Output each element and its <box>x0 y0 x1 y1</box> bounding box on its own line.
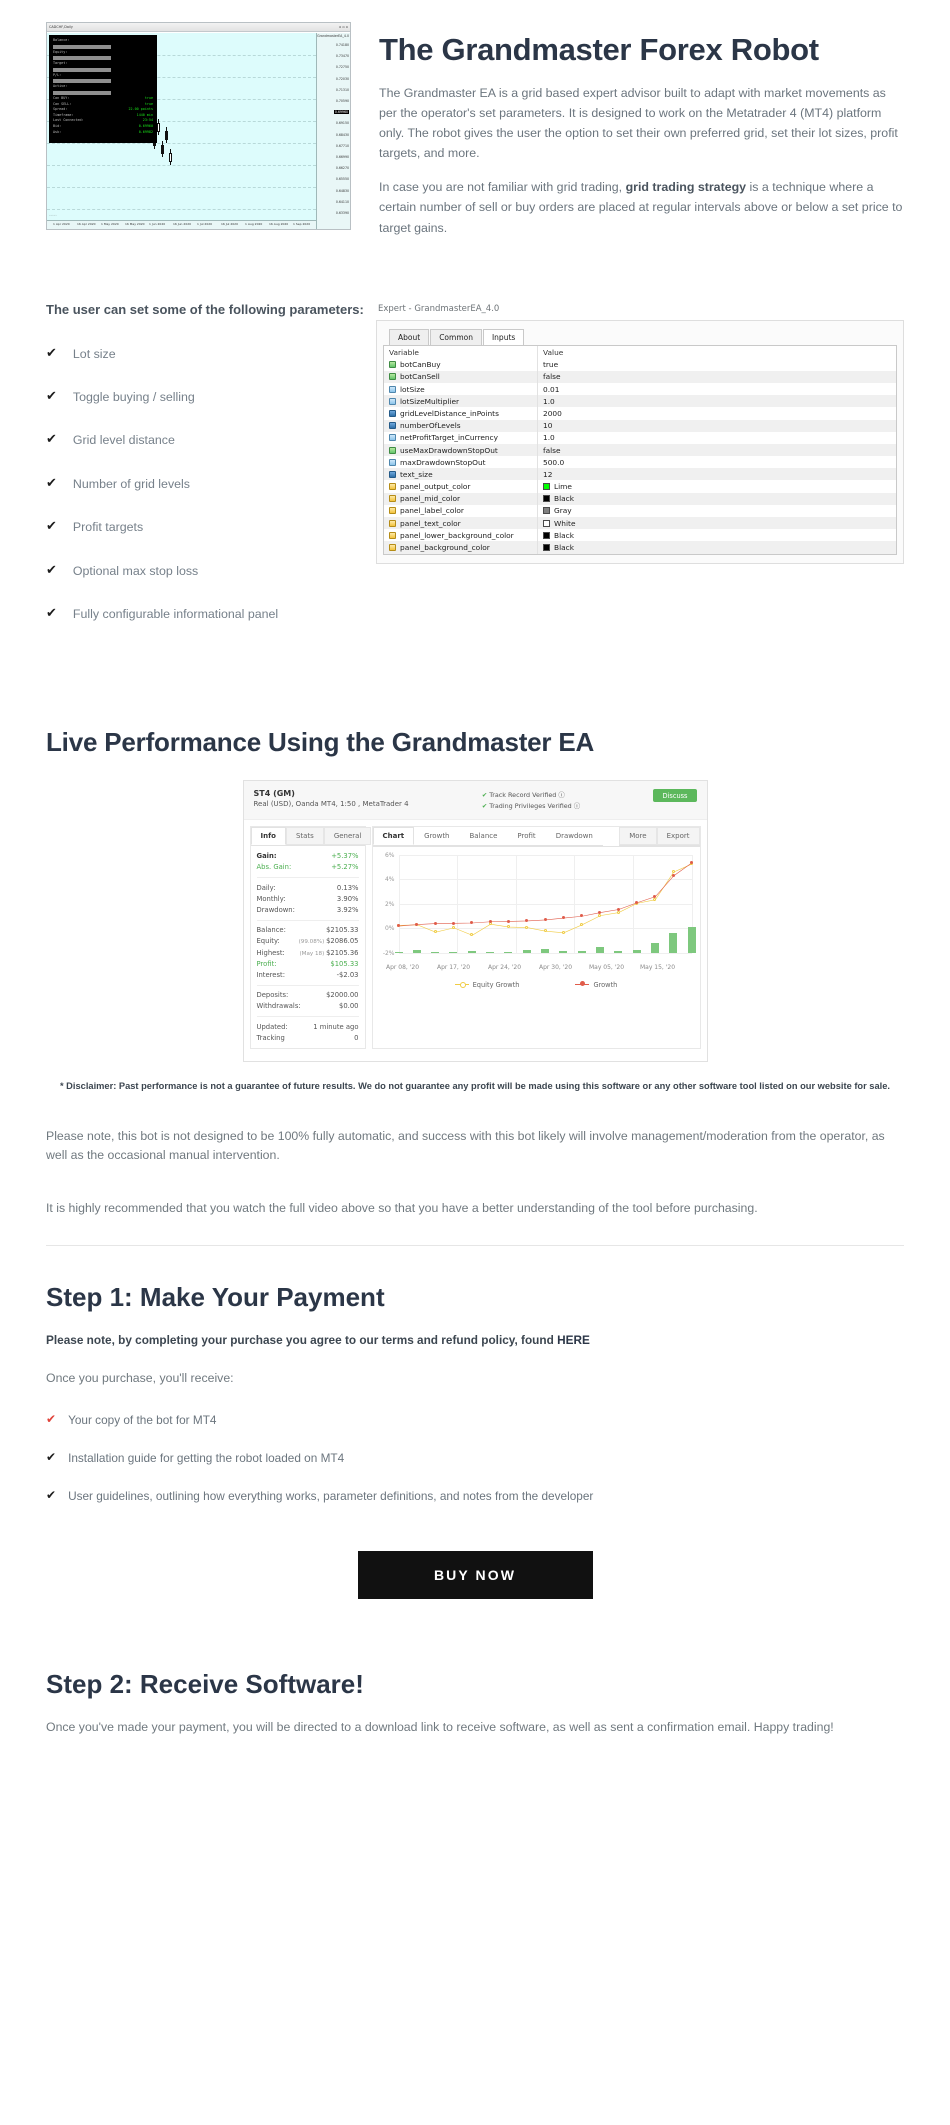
stat-row: Deposits:$2000.00 <box>257 990 359 1001</box>
variable-value: Lime <box>554 482 572 491</box>
parameter-label: Number of grid levels <box>73 476 190 493</box>
parameters-heading: The user can set some of the following p… <box>46 300 366 320</box>
table-row[interactable]: botCanSellfalse <box>384 371 896 383</box>
hero-p2-pre: In case you are not familiar with grid t… <box>379 180 626 194</box>
variable-value: 2000 <box>543 409 562 418</box>
parameter-label: Fully configurable informational panel <box>73 606 278 623</box>
chart-data-point <box>617 908 620 911</box>
mt4-window-title: CADCHF,Daily <box>49 25 73 29</box>
chart-tab-strip[interactable]: ChartGrowthBalanceProfitDrawdown <box>373 827 603 846</box>
num-icon <box>389 459 396 466</box>
stat-label: Drawdown: <box>257 906 295 914</box>
deliverable-label: Your copy of the bot for MT4 <box>68 1413 216 1427</box>
note-video: It is highly recommended that you watch … <box>0 1179 950 1219</box>
color-icon <box>389 483 396 490</box>
stat-value: +5.27% <box>331 863 358 871</box>
table-row[interactable]: lotSizeMultiplier1.0 <box>384 395 896 407</box>
chart-data-point <box>635 901 638 904</box>
mt4-panel-row: Equity: <box>53 50 153 56</box>
chart-data-point <box>452 922 455 925</box>
mt4-time-axis: 1 Apr 202016 Apr 20201 May 202016 May 20… <box>47 220 316 229</box>
variable-value: Black <box>554 543 574 552</box>
mt4-indicator-label: ⌁⌁⌁⌁⌁ <box>49 214 57 217</box>
stat-label: Updated: <box>257 1023 288 1031</box>
mt4-chart-area: Balance:Equity:Target:P/L:Active:Can BUY… <box>47 33 350 229</box>
variable-name: panel_lower_background_color <box>400 531 514 540</box>
check-icon: ✔ <box>46 346 57 360</box>
account-info: ST4 (GM) Real (USD), Oanda MT4, 1:50 , M… <box>254 789 409 812</box>
stats-divider <box>257 985 359 986</box>
dialog-tab-about[interactable]: About <box>389 329 429 345</box>
dialog-tab-common[interactable]: Common <box>430 329 482 345</box>
legend-item-growth: Growth <box>575 981 617 989</box>
discuss-button[interactable]: Discuss <box>653 789 696 802</box>
mt4-price-tick: 0.65550 <box>336 177 349 181</box>
variable-name: gridLevelDistance_inPoints <box>400 409 499 418</box>
parameter-label: Optional max stop loss <box>73 563 198 580</box>
myfxbook-body: InfoStatsGeneral Gain:+5.37%Abs. Gain:+5… <box>244 820 707 1056</box>
table-row[interactable]: panel_output_colorLime <box>384 480 896 492</box>
verification-badges: ✔ Track Record Verified ⓘ ✔ Trading Priv… <box>482 789 580 812</box>
stat-row: Balance:$2105.33 <box>257 925 359 936</box>
variable-name: useMaxDrawdownStopOut <box>400 446 498 455</box>
parameters-list-column: The user can set some of the following p… <box>46 300 366 650</box>
equity-growth-line-icon <box>455 984 469 986</box>
stats-tab-strip[interactable]: InfoStatsGeneral <box>251 827 365 846</box>
check-icon: ✔ <box>46 519 57 533</box>
chart-tab-growth[interactable]: Growth <box>414 827 459 845</box>
table-row[interactable]: panel_mid_colorBlack <box>384 493 896 505</box>
chart-y-tick: 4% <box>373 876 395 883</box>
stat-row: Highest:(May 18) $2105.36 <box>257 947 359 958</box>
chart-data-point <box>507 920 510 923</box>
parameter-item: ✔Profit targets <box>46 519 366 536</box>
chart-x-tick: Apr 08, '20 <box>386 964 419 971</box>
color-swatch <box>543 532 550 539</box>
int-icon <box>389 422 396 429</box>
table-header-row: Variable Value <box>384 346 896 359</box>
stat-label: Profit: <box>257 960 277 968</box>
parameter-label: Toggle buying / selling <box>73 389 195 406</box>
myfxbook-widget: ST4 (GM) Real (USD), Oanda MT4, 1:50 , M… <box>243 780 708 1062</box>
check-icon: ✔ <box>46 476 57 490</box>
stat-value: +5.37% <box>331 852 358 860</box>
mt4-inputs-dialog: AboutCommonInputs Variable Value botCanB… <box>376 320 904 564</box>
purchase-deliverables-list: ✔Your copy of the bot for MT4✔Installati… <box>46 1413 904 1503</box>
variable-name: panel_label_color <box>400 506 464 515</box>
variable-name: text_size <box>400 470 433 479</box>
mt4-price-tick: 0.69150 <box>336 121 349 125</box>
table-row[interactable]: numberOfLevels10 <box>384 420 896 432</box>
stat-label: Deposits: <box>257 991 289 999</box>
num-icon <box>389 398 396 405</box>
variable-value: Gray <box>554 506 572 515</box>
variable-value: Black <box>554 494 574 503</box>
color-swatch <box>543 544 550 551</box>
mt4-ea-label: GrandmasterEA_4.0 <box>317 34 349 38</box>
tab-general[interactable]: General <box>324 827 372 845</box>
variable-value: Black <box>554 531 574 540</box>
variable-name: panel_text_color <box>400 519 461 528</box>
live-performance-heading: Live Performance Using the Grandmaster E… <box>46 727 904 758</box>
variable-name: netProfitTarget_inCurrency <box>400 433 498 442</box>
parameter-label: Grid level distance <box>73 432 175 449</box>
myfxbook-header: ST4 (GM) Real (USD), Oanda MT4, 1:50 , M… <box>244 781 707 819</box>
chart-tab-profit[interactable]: Profit <box>507 827 545 845</box>
legend-label-growth: Growth <box>593 981 617 989</box>
chart-data-point <box>525 926 528 929</box>
stat-row: Abs. Gain:+5.27% <box>257 862 359 873</box>
chart-x-tick: May 05, '20 <box>589 964 624 971</box>
color-icon <box>389 544 396 551</box>
variable-value: White <box>554 519 576 528</box>
chart-y-tick: -2% <box>373 950 395 957</box>
deliverable-label: Installation guide for getting the robot… <box>68 1451 344 1465</box>
stat-value: 3.90% <box>337 895 359 903</box>
variable-value: true <box>543 360 558 369</box>
stat-label: Abs. Gain: <box>257 863 292 871</box>
hero-paragraph-1: The Grandmaster EA is a grid based exper… <box>379 83 904 163</box>
verified-track-record: Track Record Verified <box>489 791 556 799</box>
stat-row: Daily:0.13% <box>257 882 359 893</box>
color-swatch <box>543 495 550 502</box>
mt4-price-tick: 0.68430 <box>336 133 349 137</box>
buy-now-button[interactable]: BUY NOW <box>358 1551 593 1599</box>
check-icon: ✔ <box>46 1413 56 1426</box>
table-row[interactable]: maxDrawdownStopOut500.0 <box>384 456 896 468</box>
legend-item-equity-growth: Equity Growth <box>455 981 520 989</box>
stat-label: Gain: <box>257 852 277 860</box>
variable-value: false <box>543 446 561 455</box>
table-row[interactable]: panel_label_colorGray <box>384 505 896 517</box>
check-icon: ✔ <box>46 1489 56 1502</box>
terms-note: Please note, by completing your purchase… <box>46 1333 904 1347</box>
mt4-price-tick: 0.66270 <box>336 166 349 170</box>
mt4-title-bar: CADCHF,Daily ▫ ▫ ▫ <box>47 23 350 32</box>
parameters-check-list: ✔Lot size✔Toggle buying / selling✔Grid l… <box>46 346 366 624</box>
chart-data-point <box>617 911 620 914</box>
mt4-date-tick: 16 Jun 2020 <box>173 222 191 226</box>
mt4-price-tick: 0.74180 <box>336 43 349 47</box>
color-icon <box>389 495 396 502</box>
hero-screenshot: CADCHF,Daily ▫ ▫ ▫ Balance:Equity:Target… <box>46 22 351 252</box>
chart-gridline <box>399 953 692 954</box>
chart-lines <box>399 855 692 953</box>
table-row[interactable]: botCanBuytrue <box>384 359 896 371</box>
mt4-date-tick: 16 Aug 2020 <box>269 222 288 226</box>
column-header-variable: Variable <box>389 348 419 357</box>
check-icon: ✔ <box>46 432 57 446</box>
stat-value: -$2.03 <box>337 971 359 979</box>
landing-page: CADCHF,Daily ▫ ▫ ▫ Balance:Equity:Target… <box>0 0 950 1774</box>
mt4-date-tick: 1 Jul 2020 <box>197 222 212 226</box>
stat-value: 1 minute ago <box>313 1023 358 1031</box>
stat-label: Withdrawals: <box>257 1002 301 1010</box>
chart-data-point <box>544 918 547 921</box>
num-icon <box>389 386 396 393</box>
chart-card: ChartGrowthBalanceProfitDrawdown MoreExp… <box>372 826 701 1050</box>
chart-tab-balance[interactable]: Balance <box>460 827 508 845</box>
chart-y-tick: 0% <box>373 925 395 932</box>
inputs-dialog-column: Expert - GrandmasterEA_4.0 AboutCommonIn… <box>376 300 904 650</box>
variable-name: botCanSell <box>400 372 440 381</box>
variable-value: 10 <box>543 421 552 430</box>
mt4-panel-row: Target: <box>53 61 153 67</box>
stat-label: Daily: <box>257 884 276 892</box>
color-swatch <box>543 507 550 514</box>
tab-info[interactable]: Info <box>251 827 286 845</box>
buy-button-wrap: BUY NOW <box>46 1527 904 1599</box>
chart-x-tick: May 15, '20 <box>640 964 675 971</box>
note-automation: Please note, this bot is not designed to… <box>0 1107 950 1167</box>
legend-label-equity-growth: Equity Growth <box>473 981 520 989</box>
parameter-item: ✔Optional max stop loss <box>46 563 366 580</box>
chart-series-equity-growth <box>399 864 692 935</box>
column-header-value: Value <box>543 348 563 357</box>
mt4-panel-row: Balance: <box>53 38 153 44</box>
bool-icon <box>389 373 396 380</box>
stat-label: Equity: <box>257 937 280 945</box>
color-swatch <box>543 520 550 527</box>
table-row[interactable]: panel_lower_background_colorBlack <box>384 529 896 541</box>
mt4-date-tick: 16 Jul 2020 <box>221 222 238 226</box>
chart-y-tick: 2% <box>373 901 395 908</box>
num-icon <box>389 434 396 441</box>
variable-name: numberOfLevels <box>400 421 461 430</box>
stat-value: (May 18) $2105.36 <box>299 949 358 957</box>
stat-value: 0.13% <box>337 884 359 892</box>
mt4-price-tick: 0.66990 <box>336 155 349 159</box>
chart-data-point <box>489 920 492 923</box>
dialog-tab-inputs[interactable]: Inputs <box>483 329 524 345</box>
variable-value: 0.01 <box>543 385 559 394</box>
mt4-panel-row: P/L: <box>53 73 153 79</box>
stat-value: $2105.33 <box>326 926 358 934</box>
stat-value: $105.33 <box>330 960 358 968</box>
variable-value: 12 <box>543 470 552 479</box>
mt4-price-tick: 0.70590 <box>336 99 349 103</box>
stats-divider <box>257 920 359 921</box>
table-row[interactable]: gridLevelDistance_inPoints2000 <box>384 407 896 419</box>
dialog-tab-strip[interactable]: AboutCommonInputs <box>389 329 897 345</box>
variable-name: maxDrawdownStopOut <box>400 458 486 467</box>
mt4-date-tick: 16 Apr 2020 <box>77 222 96 226</box>
stat-value: 3.92% <box>337 906 359 914</box>
variable-name: lotSizeMultiplier <box>400 397 459 406</box>
mt4-panel-row: Ask:0.69982 <box>53 130 153 136</box>
stat-value-note: (99.08%) <box>299 939 326 945</box>
mt4-price-scale: GrandmasterEA_4.0 0.741800.734700.727500… <box>316 33 350 229</box>
chart-series-growth <box>399 862 692 925</box>
parameter-label: Lot size <box>73 346 116 363</box>
hero-paragraph-2: In case you are not familiar with grid t… <box>379 177 904 237</box>
color-icon <box>389 532 396 539</box>
account-details: Real (USD), Oanda MT4, 1:50 , MetaTrader… <box>254 800 409 808</box>
color-icon <box>389 520 396 527</box>
chart-legend: Equity Growth Growth <box>373 979 700 995</box>
bool-icon <box>389 447 396 454</box>
stats-divider <box>257 877 359 878</box>
chart-x-tick: Apr 24, '20 <box>488 964 521 971</box>
stat-row: Tracking0 <box>257 1032 359 1043</box>
table-row[interactable]: lotSize0.01 <box>384 383 896 395</box>
variable-name: lotSize <box>400 385 425 394</box>
chart-x-tick: Apr 30, '20 <box>539 964 572 971</box>
hero-p2-bold: grid trading strategy <box>626 180 746 194</box>
variable-value: false <box>543 372 561 381</box>
variable-name: panel_background_color <box>400 543 490 552</box>
chart-menu-export[interactable]: Export <box>657 827 700 845</box>
stat-value: $0.00 <box>339 1002 358 1010</box>
table-row[interactable]: panel_background_colorBlack <box>384 541 896 553</box>
mt4-date-tick: 1 May 2020 <box>101 222 119 226</box>
color-swatch <box>543 483 550 490</box>
variable-name: panel_mid_color <box>400 494 460 503</box>
mt4-date-tick: 1 Jun 2020 <box>149 222 165 226</box>
mt4-date-tick: 16 May 2020 <box>125 222 145 226</box>
bool-icon <box>389 361 396 368</box>
table-row[interactable]: useMaxDrawdownStopOutfalse <box>384 444 896 456</box>
stat-label: Monthly: <box>257 895 286 903</box>
chart-x-tick: Apr 17, '20 <box>437 964 470 971</box>
step-2-body: Once you've made your payment, you will … <box>46 1720 904 1734</box>
parameter-item: ✔Fully configurable informational panel <box>46 606 366 623</box>
inputs-table: Variable Value botCanBuytruebotCanSellfa… <box>383 345 897 555</box>
stat-label: Highest: <box>257 949 285 957</box>
step-2-section: Step 2: Receive Software! Once you've ma… <box>0 1599 950 1774</box>
growth-line-icon <box>575 984 589 986</box>
mt4-panel-row: Active: <box>53 84 153 90</box>
mt4-date-tick: 1 Sep 2020 <box>293 222 310 226</box>
check-icon: ✔ <box>482 791 487 799</box>
chart-data-point <box>690 861 693 864</box>
stat-label: Tracking <box>257 1034 285 1042</box>
hero-copy: The Grandmaster Forex Robot The Grandmas… <box>379 22 904 252</box>
stat-value-note: (May 18) <box>299 951 326 957</box>
live-performance-section: Live Performance Using the Grandmaster E… <box>0 649 950 1062</box>
account-name: ST4 (GM) <box>254 789 409 798</box>
mt4-price-tick: 0.72030 <box>336 77 349 81</box>
mt4-price-tick: 0.69960 <box>334 110 349 114</box>
table-row[interactable]: panel_text_colorWhite <box>384 517 896 529</box>
parameter-item: ✔Number of grid levels <box>46 476 366 493</box>
stat-row: Equity:(99.08%) $2086.05 <box>257 936 359 947</box>
table-row[interactable]: netProfitTarget_inCurrency1.0 <box>384 432 896 444</box>
variable-name: botCanBuy <box>400 360 441 369</box>
stat-label: Balance: <box>257 926 286 934</box>
step-1-section: Step 1: Make Your Payment Please note, b… <box>0 1246 950 1599</box>
page-title: The Grandmaster Forex Robot <box>379 32 904 68</box>
chart-tab-drawdown[interactable]: Drawdown <box>546 827 603 845</box>
variable-value: 500.0 <box>543 458 564 467</box>
parameter-label: Profit targets <box>73 519 143 536</box>
chart-data-point <box>672 874 675 877</box>
stat-row: Updated:1 minute ago <box>257 1021 359 1032</box>
chart-menu-more[interactable]: More <box>619 827 656 845</box>
chart-y-tick: 6% <box>373 852 395 859</box>
mt4-info-panel: Balance:Equity:Target:P/L:Active:Can BUY… <box>49 35 157 143</box>
mt4-price-tick: 0.71310 <box>336 88 349 92</box>
mt4-price-tick: 0.67710 <box>336 144 349 148</box>
chart-tab-chart[interactable]: Chart <box>373 827 415 845</box>
stats-card: InfoStatsGeneral Gain:+5.37%Abs. Gain:+5… <box>250 826 366 1050</box>
mt4-price-tick: 0.73470 <box>336 54 349 58</box>
step-2-title: Step 2: Receive Software! <box>46 1669 904 1700</box>
stat-row: Interest:-$2.03 <box>257 969 359 980</box>
terms-note-text: Please note, by completing your purchase… <box>46 1333 557 1347</box>
mt4-price-tick: 0.72750 <box>336 65 349 69</box>
stat-row: Withdrawals:$0.00 <box>257 1001 359 1012</box>
variable-value: 1.0 <box>543 397 555 406</box>
stat-value: (99.08%) $2086.05 <box>299 937 359 945</box>
stat-value: 0 <box>354 1034 358 1042</box>
check-icon: ✔ <box>46 563 57 577</box>
stat-row: Monthly:3.90% <box>257 893 359 904</box>
stat-label: Interest: <box>257 971 285 979</box>
mt4-date-tick: 1 Aug 2020 <box>245 222 262 226</box>
stats-divider <box>257 1016 359 1017</box>
mt4-price-tick: 0.64830 <box>336 189 349 193</box>
stat-row: Gain:+5.37% <box>257 851 359 862</box>
stats-rows: Gain:+5.37%Abs. Gain:+5.27%Daily:0.13%Mo… <box>251 846 365 1049</box>
purchase-lead: Once you purchase, you'll receive: <box>46 1371 904 1385</box>
performance-disclaimer: * Disclaimer: Past performance is not a … <box>0 1062 950 1094</box>
deliverable-item: ✔Installation guide for getting the robo… <box>46 1451 904 1465</box>
int-icon <box>389 471 396 478</box>
deliverable-item: ✔User guidelines, outlining how everythi… <box>46 1489 904 1503</box>
int-icon <box>389 410 396 417</box>
terms-here-link[interactable]: HERE <box>557 1333 590 1347</box>
variable-name: panel_output_color <box>400 482 470 491</box>
stat-row: Drawdown:3.92% <box>257 904 359 915</box>
parameters-section: The user can set some of the following p… <box>0 252 950 650</box>
check-icon: ✔ <box>46 1451 56 1464</box>
parameter-item: ✔Grid level distance <box>46 432 366 449</box>
step-1-title: Step 1: Make Your Payment <box>46 1282 904 1313</box>
mt4-date-tick: 1 Apr 2020 <box>53 222 70 226</box>
deliverable-item: ✔Your copy of the bot for MT4 <box>46 1413 904 1427</box>
parameter-item: ✔Lot size <box>46 346 366 363</box>
stat-row: Profit:$105.33 <box>257 958 359 969</box>
chart-menu-strip[interactable]: MoreExport <box>619 827 699 846</box>
mt4-price-tick: 0.63390 <box>336 211 349 215</box>
expert-dialog-title: Expert - GrandmasterEA_4.0 <box>378 304 904 314</box>
hero-section: CADCHF,Daily ▫ ▫ ▫ Balance:Equity:Target… <box>0 0 950 252</box>
deliverable-label: User guidelines, outlining how everythin… <box>68 1489 593 1503</box>
chart-toolbar: ChartGrowthBalanceProfitDrawdown MoreExp… <box>373 827 700 847</box>
color-icon <box>389 507 396 514</box>
mt4-chart-screenshot: CADCHF,Daily ▫ ▫ ▫ Balance:Equity:Target… <box>46 22 351 230</box>
chart-data-point <box>562 931 565 934</box>
tab-stats[interactable]: Stats <box>286 827 324 845</box>
check-icon: ✔ <box>482 802 487 810</box>
chart-plot-area <box>399 855 692 953</box>
parameter-item: ✔Toggle buying / selling <box>46 389 366 406</box>
chart-data-point <box>434 922 437 925</box>
check-icon: ✔ <box>46 606 57 620</box>
check-icon: ✔ <box>46 389 57 403</box>
mt4-window-buttons: ▫ ▫ ▫ <box>339 25 348 29</box>
chart-data-point <box>452 926 455 929</box>
table-row[interactable]: text_size12 <box>384 468 896 480</box>
variable-value: 1.0 <box>543 433 555 442</box>
performance-chart: -2%0%2%4%6% Apr 08, '20Apr 17, '20Apr 24… <box>373 847 700 979</box>
stat-value: $2000.00 <box>326 991 358 999</box>
verified-privileges: Trading Privileges Verified <box>489 802 571 810</box>
mt4-price-tick: 0.64110 <box>336 200 349 204</box>
myfxbook-widget-wrap: ST4 (GM) Real (USD), Oanda MT4, 1:50 , M… <box>46 758 904 1062</box>
